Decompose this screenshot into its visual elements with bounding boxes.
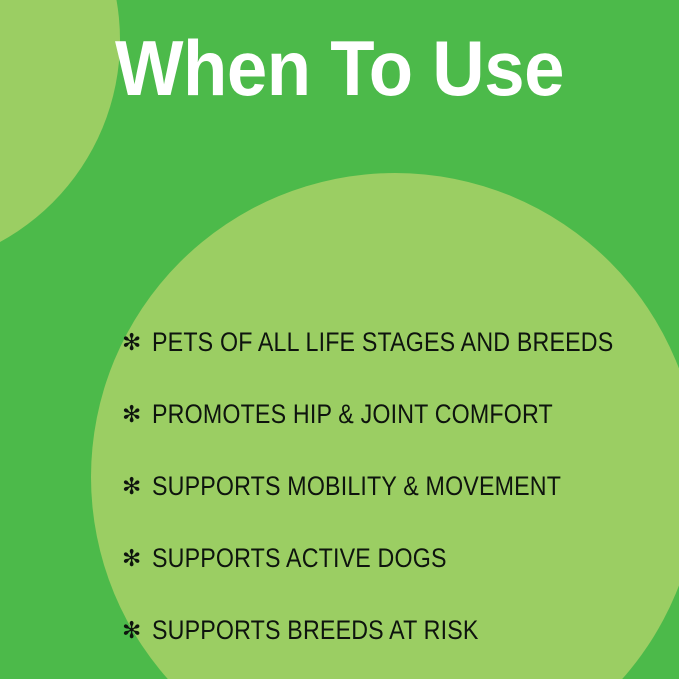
flower-asterisk-icon: ✻ (122, 331, 152, 354)
benefits-list: ✻ PETS OF ALL LIFE STAGES AND BREEDS ✻ P… (122, 306, 667, 666)
page-title: When To Use (24, 26, 655, 110)
benefit-label: PROMOTES HIP & JOINT COMFORT (152, 401, 553, 428)
flower-asterisk-icon: ✻ (122, 619, 152, 642)
panel-content: When To Use ✻ PETS OF ALL LIFE STAGES AN… (0, 0, 679, 679)
benefit-label: SUPPORTS ACTIVE DOGS (152, 545, 447, 572)
list-item: ✻ PETS OF ALL LIFE STAGES AND BREEDS (122, 306, 667, 378)
when-to-use-infographic: When To Use ✻ PETS OF ALL LIFE STAGES AN… (0, 0, 679, 679)
benefit-label: SUPPORTS BREEDS AT RISK (152, 617, 479, 644)
flower-asterisk-icon: ✻ (122, 547, 152, 570)
list-item: ✻ PROMOTES HIP & JOINT COMFORT (122, 378, 667, 450)
benefit-label: SUPPORTS MOBILITY & MOVEMENT (152, 473, 561, 500)
flower-asterisk-icon: ✻ (122, 403, 152, 426)
benefit-label: PETS OF ALL LIFE STAGES AND BREEDS (152, 329, 613, 356)
list-item: ✻ SUPPORTS BREEDS AT RISK (122, 594, 667, 666)
list-item: ✻ SUPPORTS MOBILITY & MOVEMENT (122, 450, 667, 522)
flower-asterisk-icon: ✻ (122, 475, 152, 498)
list-item: ✻ SUPPORTS ACTIVE DOGS (122, 522, 667, 594)
